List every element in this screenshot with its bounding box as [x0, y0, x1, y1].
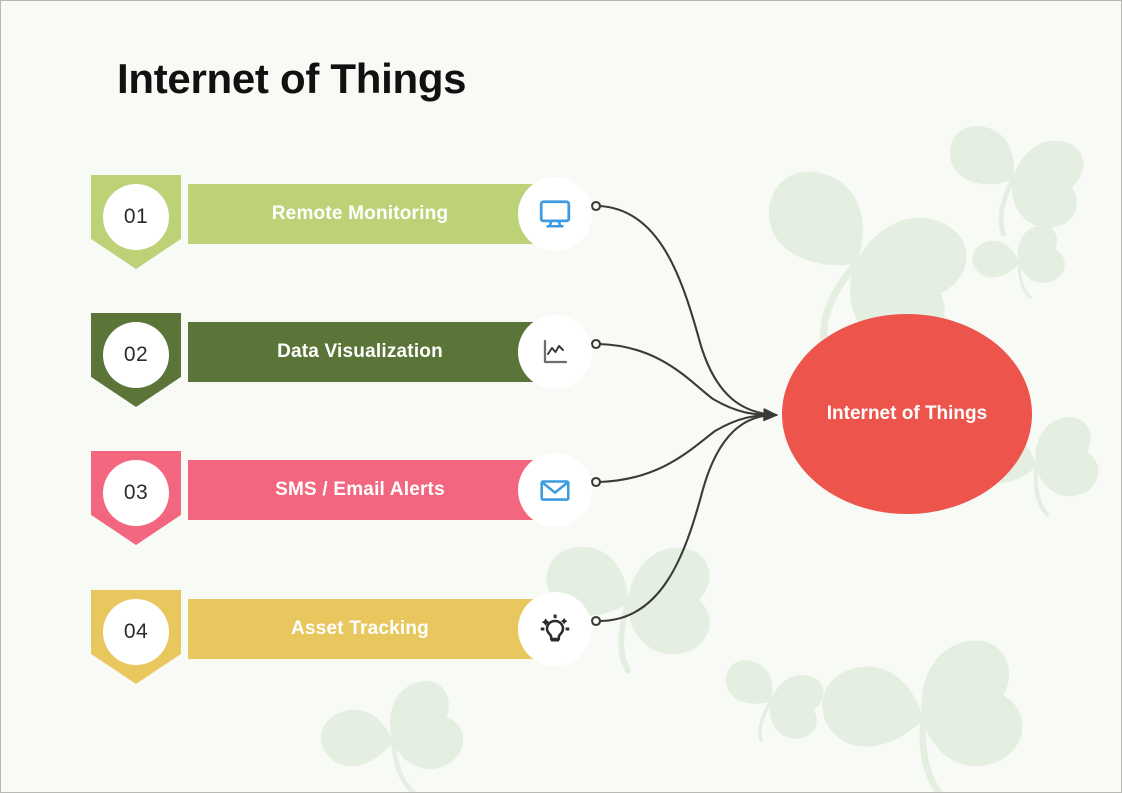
monitor-icon [518, 177, 592, 251]
step-badge-1[interactable]: 01 [91, 175, 181, 269]
step-label-4: Asset Tracking [291, 618, 485, 640]
line-chart-icon [518, 315, 592, 389]
connector-origin-dot-2 [592, 340, 600, 348]
connector-origin-dot-3 [592, 478, 600, 486]
connector-path-3 [599, 415, 775, 482]
infographic-canvas: Internet of Things 01 Remote [0, 0, 1122, 793]
page-title: Internet of Things [117, 55, 466, 103]
step-bar-1[interactable]: Remote Monitoring [188, 184, 588, 244]
step-label-3: SMS / Email Alerts [275, 479, 501, 501]
connector-path-2 [599, 344, 775, 415]
step-bar-3[interactable]: SMS / Email Alerts [188, 460, 588, 520]
step-label-1: Remote Monitoring [272, 203, 505, 225]
step-badge-3[interactable]: 03 [91, 451, 181, 545]
step-number-3: 03 [103, 460, 169, 526]
hub-label: Internet of Things [827, 403, 987, 425]
connector-path-1 [599, 206, 775, 415]
step-bar-4[interactable]: Asset Tracking [188, 599, 588, 659]
step-number-1: 01 [103, 184, 169, 250]
connector-origin-dot-1 [592, 202, 600, 210]
connector-path-4 [599, 415, 775, 621]
connector-origin-dot-4 [592, 617, 600, 625]
lightbulb-icon [518, 592, 592, 666]
step-number-4: 04 [103, 599, 169, 665]
step-bar-2[interactable]: Data Visualization [188, 322, 588, 382]
step-badge-4[interactable]: 04 [91, 590, 181, 684]
step-label-2: Data Visualization [277, 341, 499, 363]
step-number-2: 02 [103, 322, 169, 388]
step-badge-2[interactable]: 02 [91, 313, 181, 407]
envelope-icon [518, 453, 592, 527]
hub-node[interactable]: Internet of Things [782, 314, 1032, 514]
